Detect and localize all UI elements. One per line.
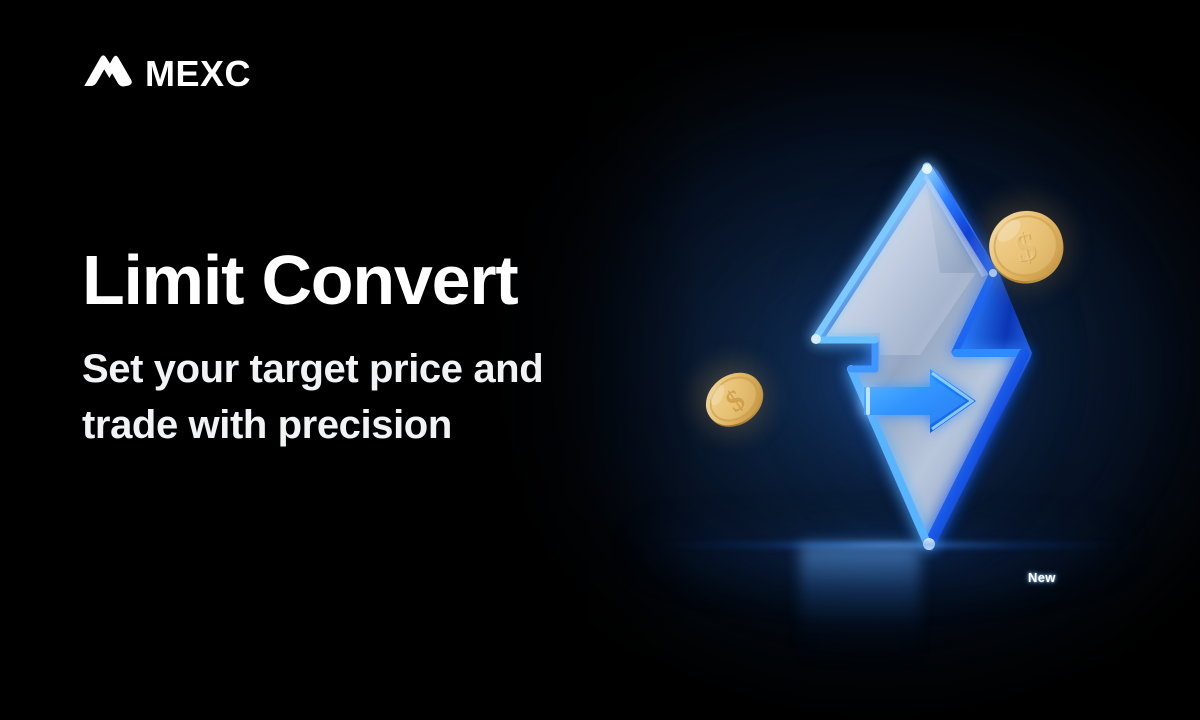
hero-artwork: New <box>620 120 1200 620</box>
mexc-mountain-logo-icon <box>78 52 134 95</box>
hero-subtitle: Set your target price and trade with pre… <box>82 342 642 452</box>
hero-copy: Limit Convert Set your target price and … <box>82 245 642 453</box>
hero-subtitle-line-2: trade with precision <box>82 398 642 453</box>
page-title: Limit Convert <box>82 245 642 316</box>
hero-subtitle-line-1: Set your target price and <box>82 342 642 397</box>
coin-glow <box>684 349 782 447</box>
brand-name: MEXC <box>145 56 251 92</box>
gold-dollar-coin-icon: $ $ <box>985 205 1067 287</box>
gold-dollar-coin-icon: $ <box>700 365 768 433</box>
floor-light-reflection <box>800 544 920 664</box>
coin-glow <box>967 187 1083 303</box>
brand-logo[interactable]: MEXC <box>78 52 251 95</box>
promo-banner: MEXC Limit Convert Set your target price… <box>0 0 1200 720</box>
